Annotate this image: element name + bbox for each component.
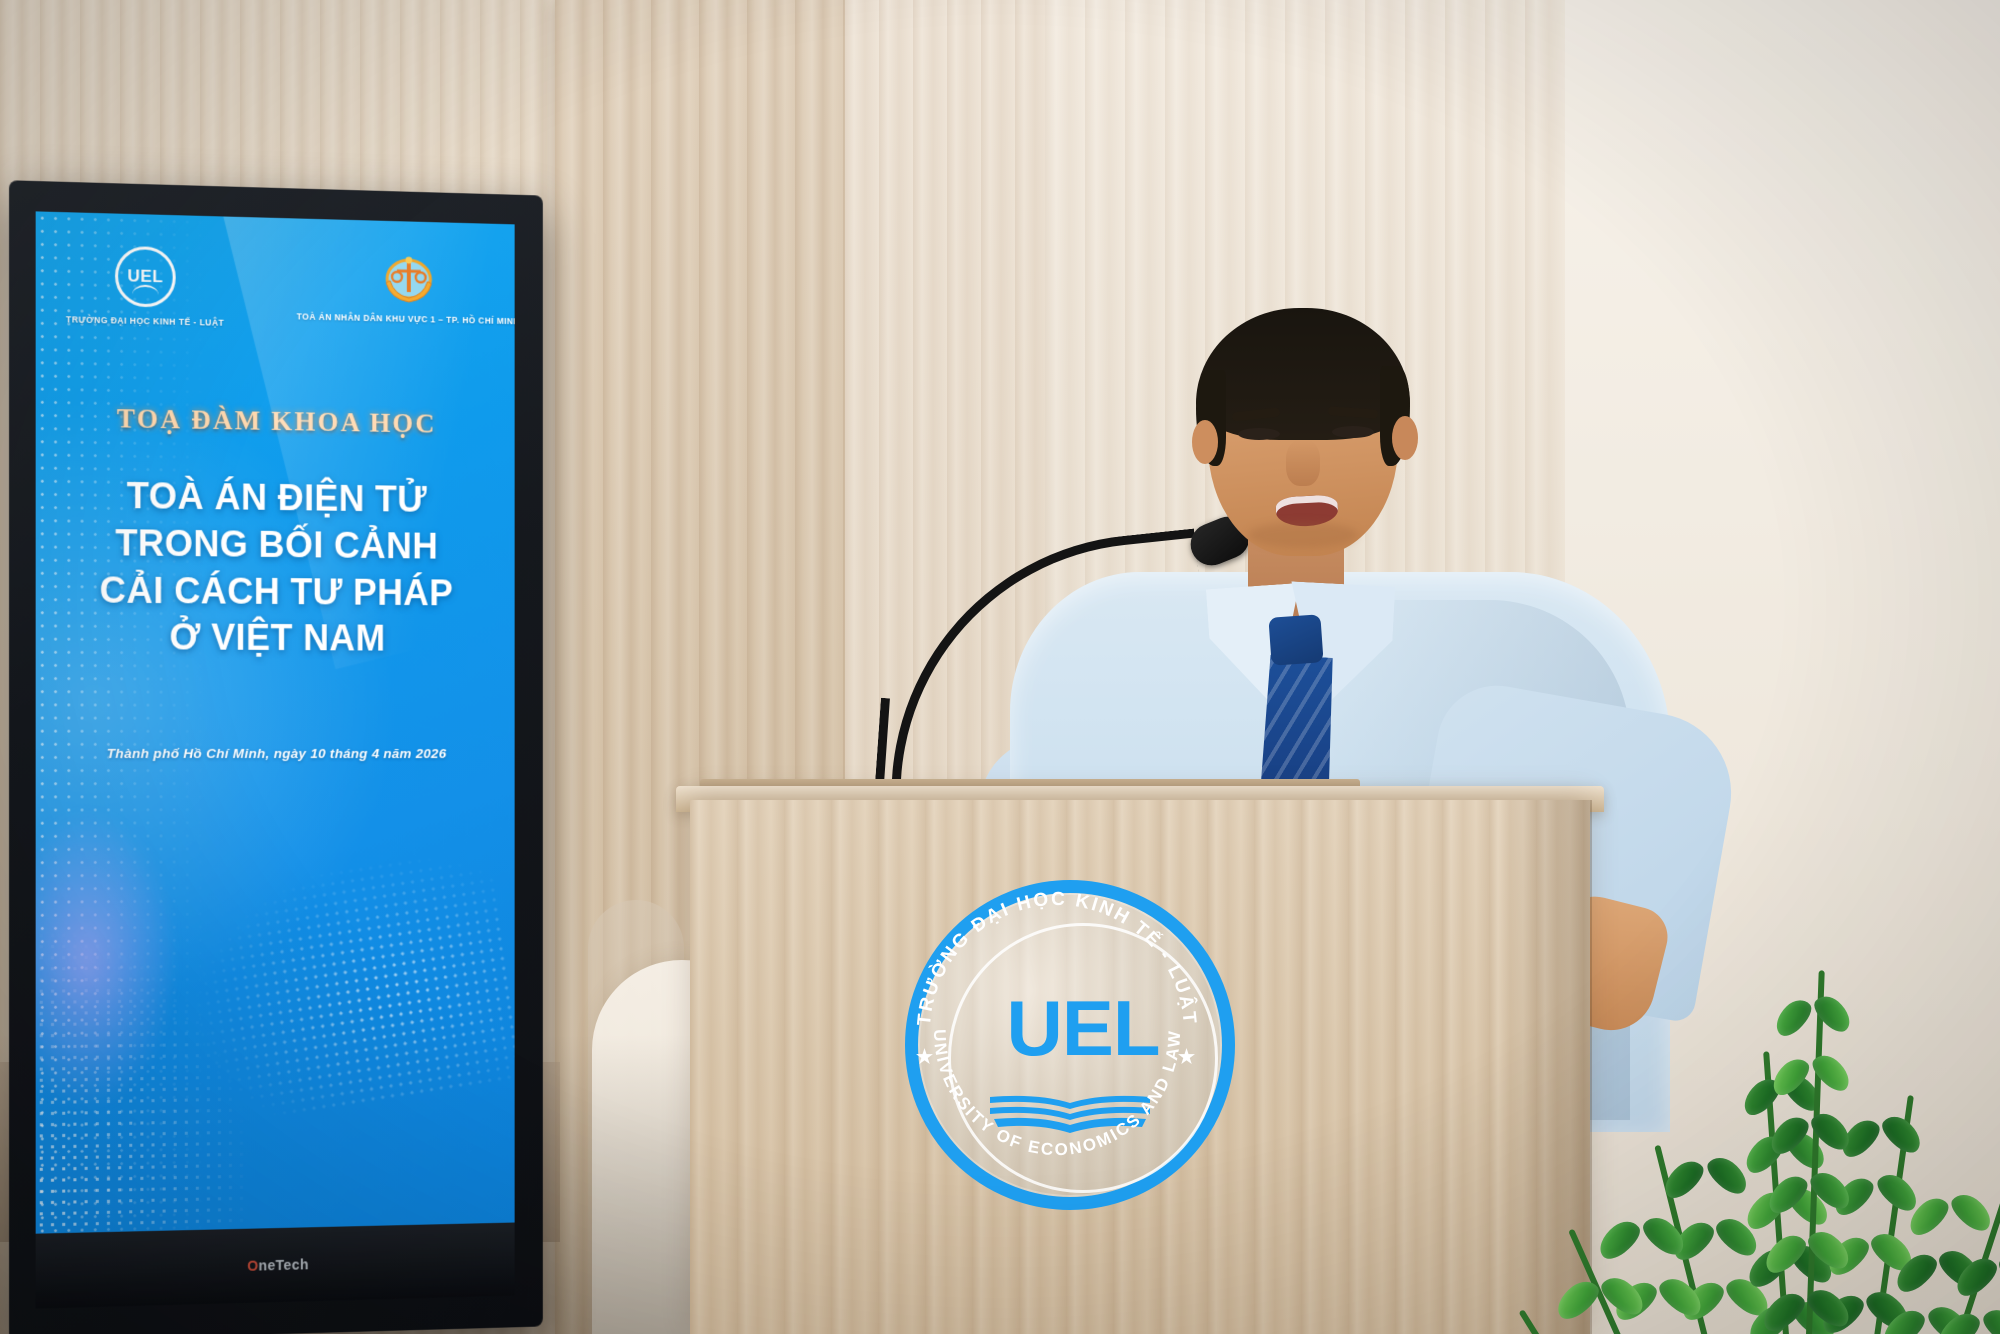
- slide-glow-accent: [36, 808, 178, 1113]
- slide-title-line-2: TRONG BỐI CẢNH: [60, 519, 491, 570]
- uel-seal-top-text: TRƯỜNG ĐẠI HỌC KINH TẾ - LUẬT: [914, 889, 1200, 1027]
- brand-rest: neTech: [258, 1256, 308, 1273]
- speaker-ear-left: [1192, 420, 1218, 464]
- speaker-tie-knot: [1268, 614, 1323, 666]
- uel-seal-star-left: ★: [916, 1047, 935, 1068]
- vietnam-court-emblem-icon: [380, 253, 437, 306]
- slide-date-line: Thành phố Hồ Chí Minh, ngày 10 tháng 4 n…: [36, 746, 515, 761]
- plant-leaf: [1593, 1215, 1646, 1264]
- speaker-eye-left: [1238, 428, 1280, 440]
- slide-logo-court-caption: TOÀ ÁN NHÂN DÂN KHU VỰC 1 – TP. HỒ CHÍ M…: [297, 311, 515, 326]
- photo-scene: UEL TRƯỜNG ĐẠI HỌC KINH TẾ - LUẬT: [0, 0, 2000, 1334]
- speaker-eye-right: [1332, 426, 1374, 438]
- slide-logo-uel: UEL TRƯỜNG ĐẠI HỌC KINH TẾ - LUẬT: [49, 244, 241, 328]
- slide-logo-court: TOÀ ÁN NHÂN DÂN KHU VỰC 1 – TP. HỒ CHÍ M…: [315, 251, 502, 326]
- uel-seal-star-right: ★: [1178, 1047, 1197, 1068]
- speaker-hair: [1196, 308, 1410, 440]
- display-bezel-bottom: OneTech: [36, 1223, 515, 1309]
- slide-title-line-4: Ở VIỆT NAM: [60, 614, 491, 663]
- speaker-chin-shadow: [1248, 522, 1358, 548]
- digital-signage-display[interactable]: UEL TRƯỜNG ĐẠI HỌC KINH TẾ - LUẬT: [9, 180, 543, 1334]
- uel-seal-bottom-text: UNIVERSITY OF ECONOMICS AND LAW: [930, 1029, 1184, 1160]
- slide-title: TOÀ ÁN ĐIỆN TỬ TRONG BỐI CẢNH CẢI CÁCH T…: [60, 472, 491, 663]
- uel-seal-curved-text: TRƯỜNG ĐẠI HỌC KINH TẾ - LUẬT UNIVERSITY…: [892, 867, 1222, 1197]
- decor-plant: [1590, 400, 2000, 1334]
- display-screen: UEL TRƯỜNG ĐẠI HỌC KINH TẾ - LUẬT: [36, 211, 515, 1233]
- plant-leaf: [1946, 1188, 1998, 1236]
- plant-leaf: [1769, 994, 1816, 1041]
- slide-body: TOẠ ĐÀM KHOA HỌC TOÀ ÁN ĐIỆN TỬ TRONG BỐ…: [36, 402, 515, 664]
- plant-leaf: [1701, 1151, 1753, 1199]
- podium-uel-seal: UEL TRƯỜNG ĐẠI HỌC KINH TẾ - LUẬT UNIVER…: [905, 880, 1365, 1334]
- slide-title-line-1: TOÀ ÁN ĐIỆN TỬ: [60, 472, 491, 524]
- slide-kicker: TOẠ ĐÀM KHOA HỌC: [60, 402, 491, 440]
- uel-circle-logo-icon: UEL: [115, 246, 176, 308]
- display-brand-label: OneTech: [247, 1256, 309, 1274]
- slide-wave-graphic: [166, 835, 515, 1131]
- slide-logo-row: UEL TRƯỜNG ĐẠI HỌC KINH TẾ - LUẬT: [36, 244, 515, 334]
- plant-leaf: [1877, 1110, 1927, 1157]
- brand-mark: O: [247, 1258, 258, 1274]
- speaker-ear-right: [1392, 416, 1418, 460]
- speaker-nose: [1286, 440, 1320, 486]
- slide-title-line-3: CẢI CÁCH TƯ PHÁP: [60, 566, 491, 616]
- plant-leaf: [1977, 1303, 2000, 1334]
